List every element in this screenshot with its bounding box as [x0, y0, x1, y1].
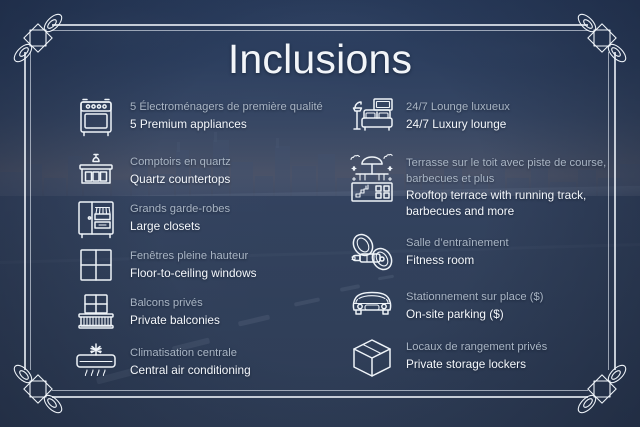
lounge-sofa-icon: [348, 96, 396, 144]
list-item-text: 5 Électroménagers de première qualité 5 …: [130, 96, 323, 132]
list-item: Comptoirs en quartz Quartz countertops: [72, 151, 324, 198]
list-item-label-fr: Comptoirs en quartz: [130, 155, 231, 171]
car-icon: [348, 286, 396, 334]
list-item: Grands garde-robes Large closets: [72, 198, 324, 245]
list-item-label-en: Fitness room: [406, 252, 509, 268]
list-item: Fenêtres pleine hauteur Floor-to-ceiling…: [72, 245, 324, 292]
list-item: 24/7 Lounge luxueux 24/7 Luxury lounge: [348, 96, 610, 152]
list-item-text: Comptoirs en quartz Quartz countertops: [130, 151, 231, 187]
list-item-label-en: 24/7 Luxury lounge: [406, 116, 510, 132]
countertop-icon: [72, 151, 120, 199]
list-item-label-fr: Grands garde-robes: [130, 202, 230, 218]
list-item: Balcons privés Private balconies: [72, 292, 324, 342]
list-item-text: Terrasse sur le toit avec piste de cours…: [406, 152, 610, 219]
inclusions-slide: Inclusions: [0, 0, 640, 427]
list-item-label-en: 5 Premium appliances: [130, 116, 323, 132]
list-item-label-en: Private balconies: [130, 312, 220, 328]
list-item: Salle d’entraînement Fitness room: [348, 232, 610, 286]
list-item-label-en: Rooftop terrace with running track, barb…: [406, 187, 610, 219]
list-item-text: Stationnement sur place ($) On-site park…: [406, 286, 543, 322]
list-item: Stationnement sur place ($) On-site park…: [348, 286, 610, 336]
list-item-text: Grands garde-robes Large closets: [130, 198, 230, 234]
slide-content: Inclusions: [0, 0, 640, 427]
list-item-label-en: Floor-to-ceiling windows: [130, 265, 257, 281]
list-item-label-fr: Climatisation centrale: [130, 346, 251, 362]
inclusions-left-column: 5 Électroménagers de première qualité 5 …: [72, 96, 324, 390]
dumbbell-icon: [348, 232, 396, 280]
closet-icon: [72, 198, 120, 246]
window-icon: [72, 245, 120, 293]
list-item-text: 24/7 Lounge luxueux 24/7 Luxury lounge: [406, 96, 510, 132]
inclusions-right-column: 24/7 Lounge luxueux 24/7 Luxury lounge: [348, 96, 610, 386]
list-item: 5 Électroménagers de première qualité 5 …: [72, 96, 324, 151]
list-item-text: Fenêtres pleine hauteur Floor-to-ceiling…: [130, 245, 257, 281]
list-item: Locaux de rangement privés Private stora…: [348, 336, 610, 386]
list-item-label-fr: Locaux de rangement privés: [406, 340, 547, 356]
list-item-label-en: Quartz countertops: [130, 171, 231, 187]
list-item-text: Balcons privés Private balconies: [130, 292, 220, 328]
list-item-label-en: Large closets: [130, 218, 230, 234]
list-item-label-en: Private storage lockers: [406, 356, 547, 372]
list-item-label-en: Central air conditioning: [130, 362, 251, 378]
list-item-label-fr: 24/7 Lounge luxueux: [406, 100, 510, 116]
list-item: Terrasse sur le toit avec piste de cours…: [348, 152, 610, 232]
list-item-text: Climatisation centrale Central air condi…: [130, 342, 251, 378]
list-item-label-en: On-site parking ($): [406, 306, 543, 322]
list-item-label-fr: Terrasse sur le toit avec piste de cours…: [406, 156, 610, 187]
list-item: Climatisation centrale Central air condi…: [72, 342, 324, 390]
list-item-text: Salle d’entraînement Fitness room: [406, 232, 509, 268]
air-conditioner-icon: [72, 342, 120, 390]
balcony-icon: [72, 292, 120, 340]
list-item-label-fr: Balcons privés: [130, 296, 220, 312]
list-item-label-fr: Stationnement sur place ($): [406, 290, 543, 306]
stove-icon: [72, 96, 120, 144]
list-item-label-fr: 5 Électroménagers de première qualité: [130, 100, 323, 116]
list-item-text: Locaux de rangement privés Private stora…: [406, 336, 547, 372]
storage-box-icon: [348, 336, 396, 384]
rooftop-terrace-icon: [348, 152, 396, 200]
page-title: Inclusions: [0, 36, 640, 83]
list-item-label-fr: Fenêtres pleine hauteur: [130, 249, 257, 265]
list-item-label-fr: Salle d’entraînement: [406, 236, 509, 252]
